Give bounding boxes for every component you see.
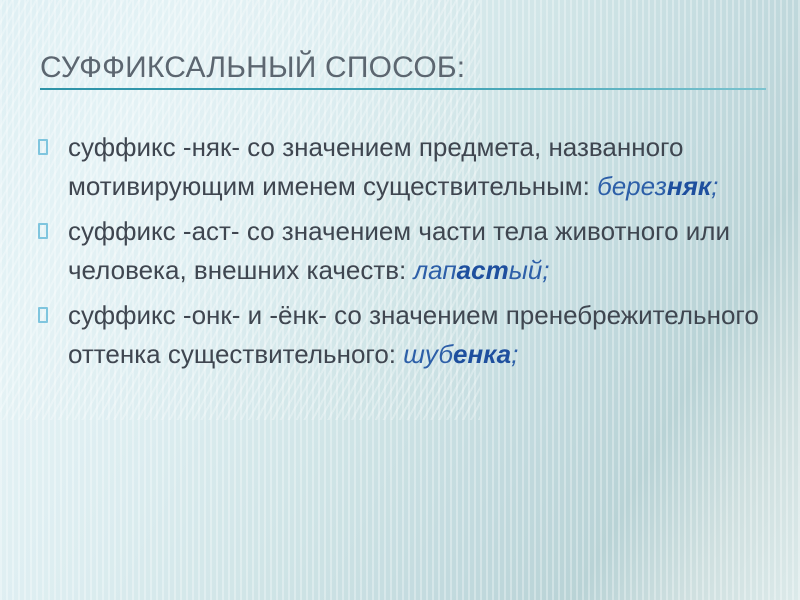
emphasis-bold-italic: няк — [667, 171, 711, 201]
bullet-text: суффикс -няк- со значением предмета, наз… — [68, 132, 718, 201]
list-item: суффикс -онк- и -ёнк- со значением прене… — [30, 296, 764, 374]
text-run: суффикс -аст- со значением части тела жи… — [68, 216, 730, 285]
bullet-text: суффикс -аст- со значением части тела жи… — [68, 216, 730, 285]
list-item: суффикс -аст- со значением части тела жи… — [30, 212, 764, 290]
bullet-text: суффикс -онк- и -ёнк- со значением прене… — [68, 300, 759, 369]
emphasis-italic: лап — [414, 255, 457, 285]
emphasis-italic: ый; — [509, 255, 550, 285]
emphasis-italic: ; — [711, 171, 718, 201]
bullet-square-icon — [38, 307, 48, 323]
presentation-slide: СУФФИКСАЛЬНЫЙ СПОСОБ: суффикс -няк- со з… — [0, 0, 800, 600]
list-item: суффикс -няк- со значением предмета, наз… — [30, 128, 764, 206]
bullet-list: суффикс -няк- со значением предмета, наз… — [30, 128, 764, 374]
bullet-square-icon — [38, 139, 48, 155]
emphasis-italic: ; — [511, 339, 518, 369]
title-underline-rule — [40, 88, 766, 90]
slide-body: суффикс -няк- со значением предмета, наз… — [30, 128, 764, 380]
emphasis-italic: берез — [597, 171, 667, 201]
text-run: суффикс -няк- со значением предмета, наз… — [68, 132, 683, 201]
title-block: СУФФИКСАЛЬНЫЙ СПОСОБ: — [40, 50, 766, 90]
emphasis-bold-italic: аст — [457, 255, 509, 285]
page-title: СУФФИКСАЛЬНЫЙ СПОСОБ: — [40, 50, 766, 86]
emphasis-italic: шуб — [403, 339, 453, 369]
bullet-square-icon — [38, 223, 48, 239]
emphasis-bold-italic: енка — [453, 339, 511, 369]
